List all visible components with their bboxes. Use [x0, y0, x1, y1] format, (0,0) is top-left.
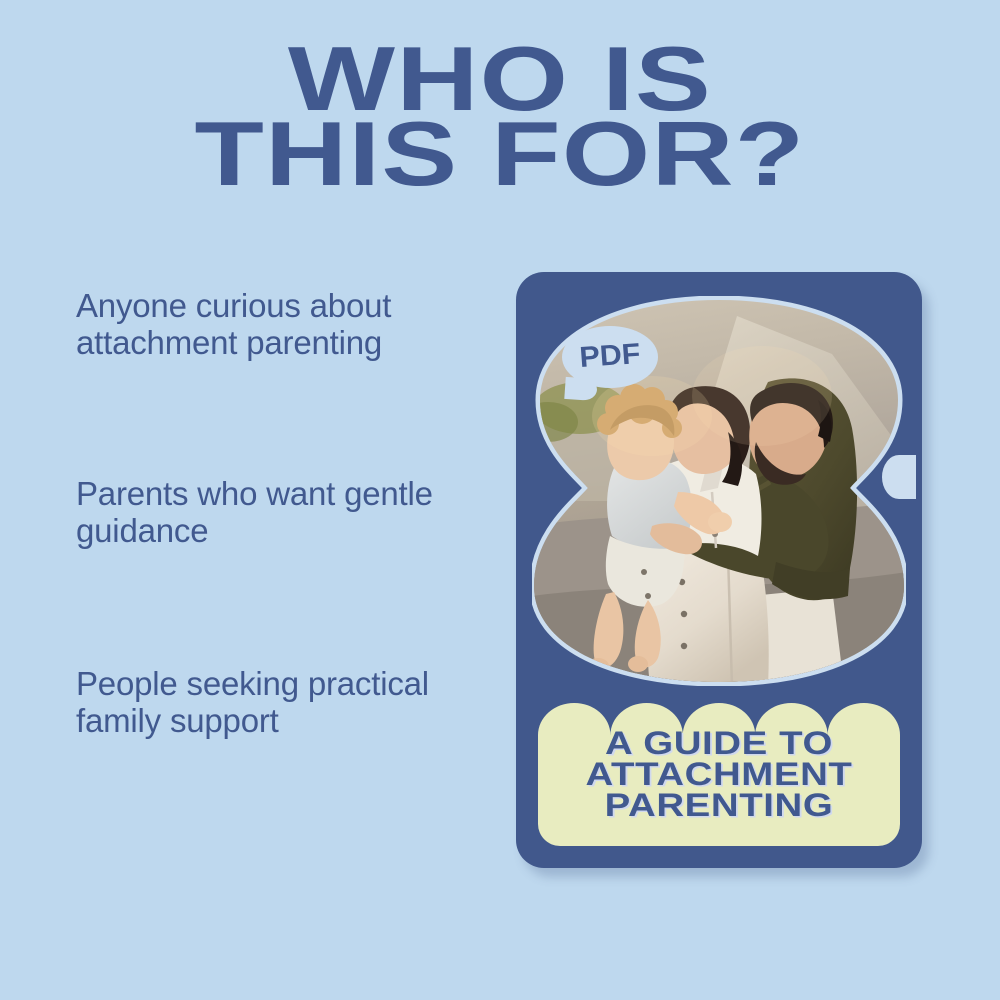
caption-line-2: ATTACHMENT — [502, 759, 936, 790]
caption-text: A GUIDE TO ATTACHMENT PARENTING — [502, 728, 936, 821]
caption-line-3: PARENTING — [502, 790, 936, 821]
blob-waist-notch — [882, 455, 916, 499]
list-item: Parents who want gentle guidance — [76, 476, 476, 550]
list-item: Anyone curious about attachment parentin… — [76, 288, 476, 362]
cover-caption: A GUIDE TO ATTACHMENT PARENTING — [538, 691, 900, 846]
page-title: WHO IS THIS FOR? — [0, 42, 1000, 191]
ebook-cover-card[interactable]: PDF A GUIDE TO ATTACHMENT PARENTING — [516, 272, 922, 868]
pdf-badge-label: PDF — [557, 323, 662, 392]
page-title-line-2: THIS FOR? — [0, 117, 1000, 192]
audience-list: Anyone curious about attachment parentin… — [76, 288, 476, 740]
list-item: People seeking practical family support — [76, 666, 476, 740]
pdf-badge: PDF — [562, 326, 658, 388]
blob-waist-notch-shape — [882, 455, 916, 499]
caption-line-1: A GUIDE TO — [502, 728, 936, 759]
